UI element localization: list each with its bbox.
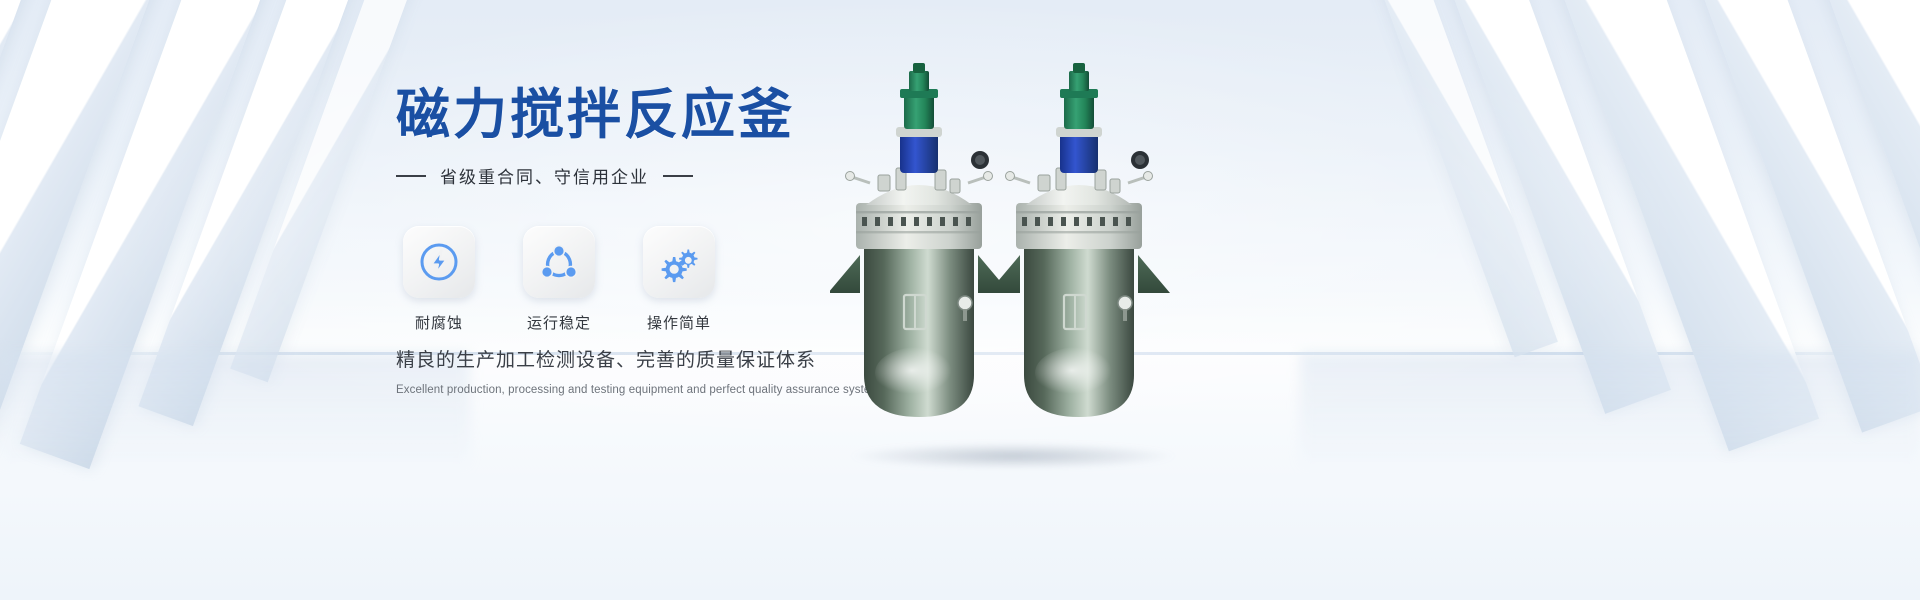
feature-item-simple-operation[interactable]: 操作简单 <box>640 226 718 333</box>
banner-subtitle: 省级重合同、守信用企业 <box>440 163 649 188</box>
feature-tile <box>403 226 475 298</box>
product-ground-shadow <box>848 443 1178 469</box>
feature-label: 耐腐蚀 <box>415 312 463 333</box>
reactor-vessel-2 <box>988 63 1170 417</box>
reactor-vessels-illustration <box>830 55 1210 455</box>
banner-title: 磁力搅拌反应釜 <box>396 86 876 143</box>
feature-tile <box>523 226 595 298</box>
dash-left-icon <box>396 175 426 177</box>
lightning-bolt-circle-icon <box>417 240 461 284</box>
dash-right-icon <box>663 175 693 177</box>
product-image <box>830 55 1210 455</box>
banner-text-block: 磁力搅拌反应釜 省级重合同、守信用企业 <box>396 86 876 188</box>
feature-item-corrosion-resistant[interactable]: 耐腐蚀 <box>400 226 478 333</box>
reactor-vessel-1 <box>830 63 1010 417</box>
gears-icon <box>657 240 701 284</box>
hero-banner: 磁力搅拌反应釜 省级重合同、守信用企业 耐腐蚀 <box>0 0 1920 600</box>
network-nodes-icon <box>537 240 581 284</box>
banner-subtitle-row: 省级重合同、守信用企业 <box>396 163 876 188</box>
feature-label: 运行稳定 <box>527 312 591 333</box>
feature-list: 耐腐蚀 运行稳定 <box>400 226 718 333</box>
feature-label: 操作简单 <box>647 312 711 333</box>
feature-item-stable-operation[interactable]: 运行稳定 <box>520 226 598 333</box>
feature-tile <box>643 226 715 298</box>
